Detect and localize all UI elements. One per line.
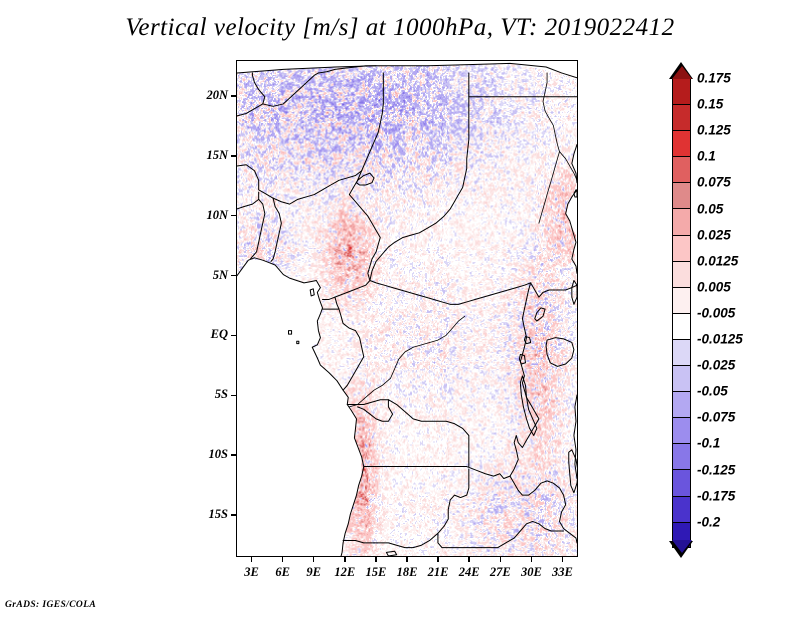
x-tick xyxy=(437,557,439,562)
y-axis-label: EQ xyxy=(211,327,228,342)
y-tick xyxy=(231,215,236,217)
colorbar-tick-label: 0.025 xyxy=(697,227,731,242)
y-tick xyxy=(231,454,236,456)
x-tick xyxy=(562,557,564,562)
y-axis-label: 10S xyxy=(209,447,228,462)
colorbar-swatch xyxy=(672,235,691,261)
colorbar-tick-label: -0.2 xyxy=(697,514,720,529)
x-tick xyxy=(500,557,502,562)
x-tick xyxy=(375,557,377,562)
colorbar-swatch xyxy=(672,182,691,208)
colorbar-swatch xyxy=(672,339,691,365)
colorbar-arrow-up-fill xyxy=(672,66,692,79)
colorbar-tick-label: 0.125 xyxy=(697,123,731,138)
page-title: Vertical velocity [m/s] at 1000hPa, VT: … xyxy=(0,14,800,42)
colorbar-swatch xyxy=(672,104,691,130)
colorbar-swatch xyxy=(672,130,691,156)
x-tick xyxy=(313,557,315,562)
colorbar-tick-label: 0.0125 xyxy=(697,253,738,268)
x-axis-label: 33E xyxy=(544,565,580,580)
y-axis-label: 10N xyxy=(206,208,228,223)
colorbar-tick-label: -0.075 xyxy=(697,410,735,425)
y-axis-label: 15S xyxy=(209,507,228,522)
x-tick xyxy=(406,557,408,562)
colorbar-swatch xyxy=(672,313,691,339)
x-tick xyxy=(468,557,470,562)
y-tick xyxy=(231,395,236,397)
colorbar-tick-label: -0.005 xyxy=(697,305,735,320)
colorbar-swatch xyxy=(672,156,691,182)
colorbar-tick-label: -0.125 xyxy=(697,462,735,477)
x-tick xyxy=(251,557,253,562)
colorbar-tick-label: 0.05 xyxy=(697,201,723,216)
colorbar-swatch xyxy=(672,78,691,104)
colorbar-swatch xyxy=(672,417,691,443)
colorbar-swatch xyxy=(672,469,691,495)
y-axis-label: 15N xyxy=(206,148,228,163)
colorbar-tick-label: -0.025 xyxy=(697,358,735,373)
y-axis-label: 20N xyxy=(206,88,228,103)
y-axis-label: 5N xyxy=(213,268,228,283)
colorbar-tick-label: -0.175 xyxy=(697,488,735,503)
x-tick xyxy=(282,557,284,562)
map-plot-area xyxy=(236,60,578,557)
colorbar-tick-label: -0.1 xyxy=(697,436,720,451)
coastline-and-borders-overlay xyxy=(237,61,577,556)
y-axis-label: 5S xyxy=(215,387,228,402)
y-tick xyxy=(231,155,236,157)
colorbar-tick-label: 0.15 xyxy=(697,97,723,112)
colorbar-tick-label: 0.075 xyxy=(697,175,731,190)
colorbar-swatch xyxy=(672,391,691,417)
colorbar-tick-label: 0.1 xyxy=(697,149,716,164)
colorbar-arrow-down-fill xyxy=(672,540,692,553)
colorbar-tick-label: -0.0125 xyxy=(697,332,743,347)
colorbar-tick-label: 0.175 xyxy=(697,71,731,86)
colorbar-tick-label: 0.005 xyxy=(697,279,731,294)
x-tick xyxy=(531,557,533,562)
colorbar-swatch xyxy=(672,287,691,313)
footer-credit: GrADS: IGES/COLA xyxy=(5,600,96,610)
y-tick xyxy=(231,275,236,277)
colorbar-swatch xyxy=(672,208,691,234)
y-tick xyxy=(231,335,236,337)
y-tick xyxy=(231,514,236,516)
colorbar-tick-label: -0.05 xyxy=(697,384,728,399)
colorbar-swatch xyxy=(672,496,691,522)
y-tick xyxy=(231,95,236,97)
x-tick xyxy=(344,557,346,562)
colorbar-swatch xyxy=(672,365,691,391)
colorbar-swatch xyxy=(672,443,691,469)
colorbar-swatch xyxy=(672,261,691,287)
colorbar xyxy=(672,78,691,548)
